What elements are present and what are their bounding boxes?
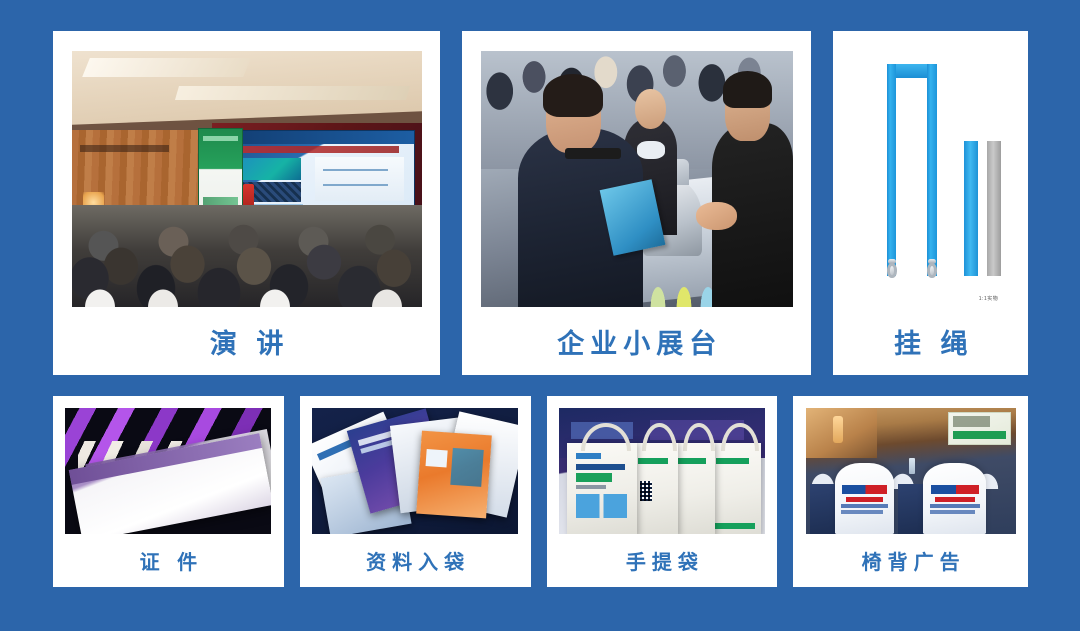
card-title-speech: 演 讲 <box>204 307 290 375</box>
grey-sample-strip <box>987 141 1001 277</box>
lanyard-clip-left <box>884 259 899 278</box>
chair-a-logo <box>842 485 887 494</box>
face-mask <box>637 141 665 159</box>
card-title-lanyard: 挂 绳 <box>888 307 974 375</box>
tote-bag-2 <box>633 443 678 534</box>
bag-1-subtitle-line <box>576 473 612 481</box>
tote-bag-3 <box>674 443 715 534</box>
brochure-4 <box>416 431 492 519</box>
chair-a-text-1 <box>841 504 888 508</box>
card-title-brochure: 资料入袋 <box>360 534 470 587</box>
chair-photo <box>806 408 1016 534</box>
chair-side-right <box>898 484 925 534</box>
card-tote[interactable]: 手提袋 <box>547 396 778 587</box>
card-title-booth: 企业小展台 <box>551 307 722 375</box>
hand <box>696 202 737 230</box>
tote-scene <box>559 408 765 534</box>
bag-4-bottom-strip <box>715 523 755 530</box>
tote-bag-4 <box>711 443 760 534</box>
bag-1-logo <box>576 453 601 460</box>
wall-lamp <box>833 416 844 444</box>
card-title-chair: 椅背广告 <box>856 534 966 587</box>
promo-board: 演 讲 企业小展台 <box>0 0 1080 631</box>
eyeglasses <box>565 148 621 158</box>
event-banner <box>948 412 1011 445</box>
lanyard-scene: 1:1实物 <box>852 51 1009 307</box>
brochure-photo <box>312 408 518 534</box>
front-chairs <box>72 266 422 307</box>
slide-image-a <box>238 158 302 180</box>
slide-title-bar <box>242 146 399 154</box>
bag-2-qr-code <box>640 481 652 502</box>
strap-right-side <box>927 64 937 276</box>
strap-left-side <box>887 64 897 276</box>
badge-photo <box>65 408 271 534</box>
card-title-badge: 证 件 <box>134 534 204 587</box>
chair-a-text-2 <box>841 510 883 514</box>
water-bottle <box>909 458 915 473</box>
speech-photo <box>72 51 422 307</box>
card-badge[interactable]: 证 件 <box>53 396 284 587</box>
bag-1-english-line <box>576 485 607 489</box>
card-lanyard[interactable]: 1:1实物 挂 绳 <box>833 31 1028 375</box>
chair-b-tagline <box>935 497 975 501</box>
chair-scene <box>806 408 1016 534</box>
bag-1-product-photos <box>576 494 628 518</box>
clip-hook-left <box>887 263 897 278</box>
booth-photo <box>481 51 793 307</box>
clip-hook-right <box>927 263 937 278</box>
bottom-row: 证 件 资料入袋 <box>53 396 1028 587</box>
card-booth[interactable]: 企业小展台 <box>462 31 811 375</box>
chair-back-ad-b <box>923 463 986 534</box>
badge-scene <box>65 408 271 534</box>
slide-diagram <box>315 157 405 201</box>
card-title-tote: 手提袋 <box>620 534 704 587</box>
brochure-scene <box>312 408 518 534</box>
conference-hall-scene <box>72 51 422 307</box>
lanyard-scale-caption: 1:1实物 <box>979 295 998 302</box>
lanyard-photo: 1:1实物 <box>852 51 1009 307</box>
bag-1-title-line <box>576 464 625 471</box>
top-row: 演 讲 企业小展台 <box>53 31 1028 375</box>
card-chair[interactable]: 椅背广告 <box>793 396 1028 587</box>
card-speech[interactable]: 演 讲 <box>53 31 440 375</box>
bag-3-green-band <box>678 458 705 464</box>
chair-b-text-1 <box>930 504 980 508</box>
chair-side-left <box>810 484 837 534</box>
bag-4-green-band <box>716 458 749 464</box>
chair-b-text-2 <box>930 510 975 514</box>
chair-a-tagline <box>846 497 884 501</box>
lanyard-clip-right <box>924 259 939 278</box>
tote-photo <box>559 408 765 534</box>
card-brochure[interactable]: 资料入袋 <box>300 396 531 587</box>
slide-header-band <box>227 131 414 144</box>
tote-bag-1 <box>567 443 637 534</box>
lanyard-strap <box>887 64 937 276</box>
chair-b-logo <box>931 485 979 494</box>
chair-back-ad-a <box>835 463 894 534</box>
booth-scene <box>481 51 793 307</box>
blue-sample-strip <box>964 141 978 277</box>
bag-2-green-band <box>638 458 668 464</box>
